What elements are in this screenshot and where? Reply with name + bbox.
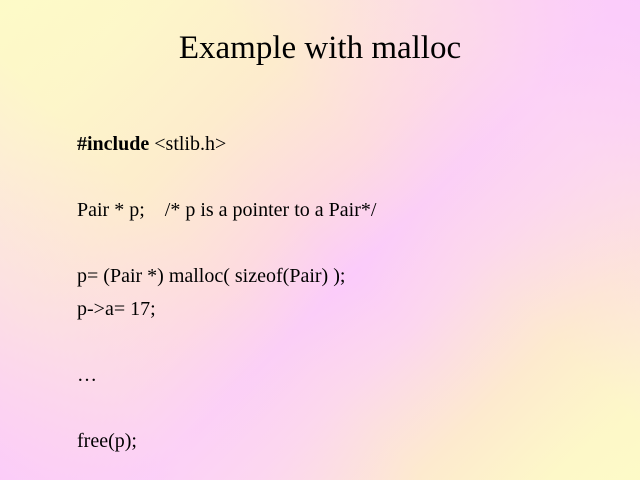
code-line-malloc-call: p= (Pair *) malloc( sizeof(Pair) ); [77, 260, 617, 293]
include-keyword: #include [77, 133, 149, 155]
include-header: <stlib.h> [149, 133, 226, 155]
slide-canvas: Example with malloc #include <stlib.h> P… [0, 0, 640, 480]
code-line-spacer-1 [77, 161, 617, 194]
code-line-spacer-4 [77, 392, 617, 425]
code-line-declaration: Pair * p; /* p is a pointer to a Pair*/ [77, 194, 617, 227]
code-line-spacer-3 [77, 326, 617, 359]
code-line-free-call: free(p); [77, 425, 617, 458]
page-title: Example with malloc [0, 28, 640, 68]
code-line-assign-a: p->a= 17; [77, 293, 617, 326]
slide-body: #include <stlib.h> Pair * p; /* p is a p… [77, 128, 617, 458]
code-line-include: #include <stlib.h> [77, 128, 617, 161]
code-line-spacer-2 [77, 227, 617, 260]
code-line-ellipsis: … [77, 359, 617, 392]
